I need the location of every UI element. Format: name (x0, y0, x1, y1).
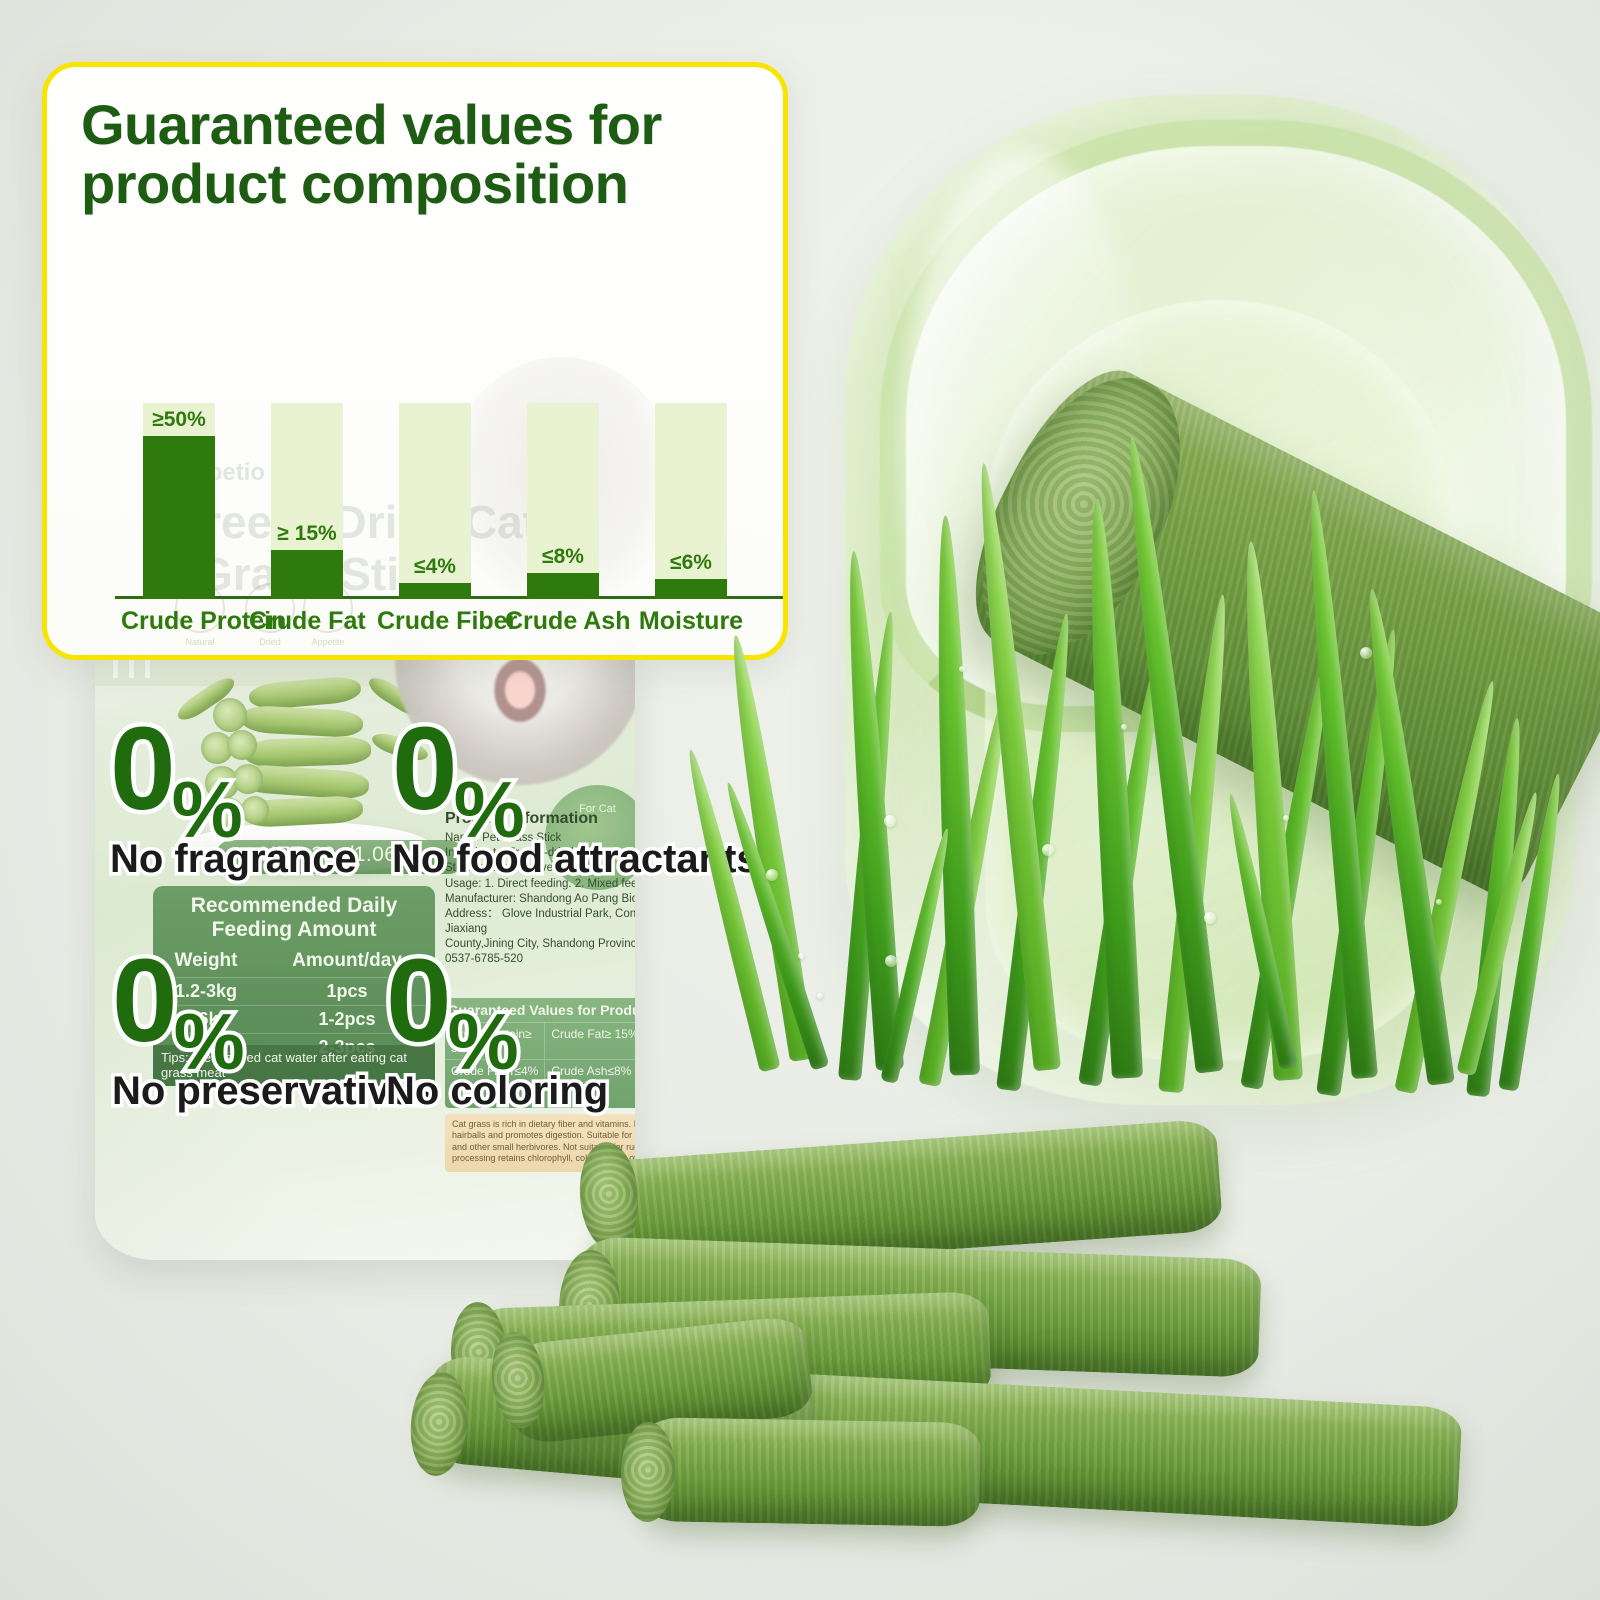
claim-percent-sign: % (454, 775, 525, 845)
bar-track (527, 403, 599, 599)
claim-number: 0 (112, 950, 178, 1054)
grass-stick (639, 1417, 981, 1527)
x-axis-label: Crude Fiber (377, 607, 493, 636)
bar-fill (399, 583, 471, 599)
claim-number: 0 (110, 718, 176, 822)
claim-number: 0 (386, 950, 452, 1054)
bar-column-crude-fat: ≥ 15% (271, 403, 343, 599)
page-title-line2: product composition (81, 154, 749, 213)
x-axis-label: Moisture (633, 607, 749, 636)
bar-column-moisture: ≤6% (655, 403, 727, 599)
claim-percent-sign: % (172, 775, 243, 845)
dew-drop (1360, 647, 1372, 659)
page-title: Guaranteed values for product compositio… (47, 67, 783, 214)
page-title-line1: Guaranteed values for (81, 95, 749, 154)
bar-fill (655, 579, 727, 599)
bar-column-crude-ash: ≤8% (527, 403, 599, 599)
claim-no-coloring: 0% No coloring (386, 950, 608, 1114)
x-axis-label: Crude Ash (505, 607, 621, 636)
bar-value-label: ≤6% (655, 551, 727, 575)
composition-bar-chart: ≥50%≥ 15%≤4%≤8%≤6% (97, 329, 737, 599)
bar-value-label: ≤4% (399, 555, 471, 579)
claim-label: No food attractants (392, 837, 759, 882)
bar-fill (271, 550, 343, 599)
bar-fill (143, 436, 215, 599)
claim-percent-sign: % (174, 1007, 245, 1077)
x-axis-label: Crude Fat (249, 607, 365, 636)
chart-category-labels: Crude ProteinCrude FatCrude FiberCrude A… (97, 607, 788, 641)
dew-drop (766, 869, 778, 881)
bar-column-crude-protein: ≥50% (143, 403, 215, 599)
dew-drop (885, 955, 897, 967)
bar-value-label: ≤8% (527, 545, 599, 569)
dew-drop (798, 953, 804, 959)
claim-number: 0 (392, 718, 458, 822)
bar-value-label: ≥ 15% (271, 522, 343, 546)
x-axis-label: Crude Protein (121, 607, 237, 636)
bar-fill (527, 573, 599, 599)
claim-no-fragrance: 0% No fragrance (110, 718, 357, 882)
bar-value-label: ≥50% (143, 408, 215, 432)
claim-label: No fragrance (110, 837, 357, 882)
bar-column-crude-fiber: ≤4% (399, 403, 471, 599)
claim-percent-sign: % (448, 1007, 519, 1077)
claim-label: No coloring (386, 1069, 608, 1114)
composition-chart-card: Hkpetio Freeze Dried Cat Grass Stick Nat… (42, 62, 788, 660)
